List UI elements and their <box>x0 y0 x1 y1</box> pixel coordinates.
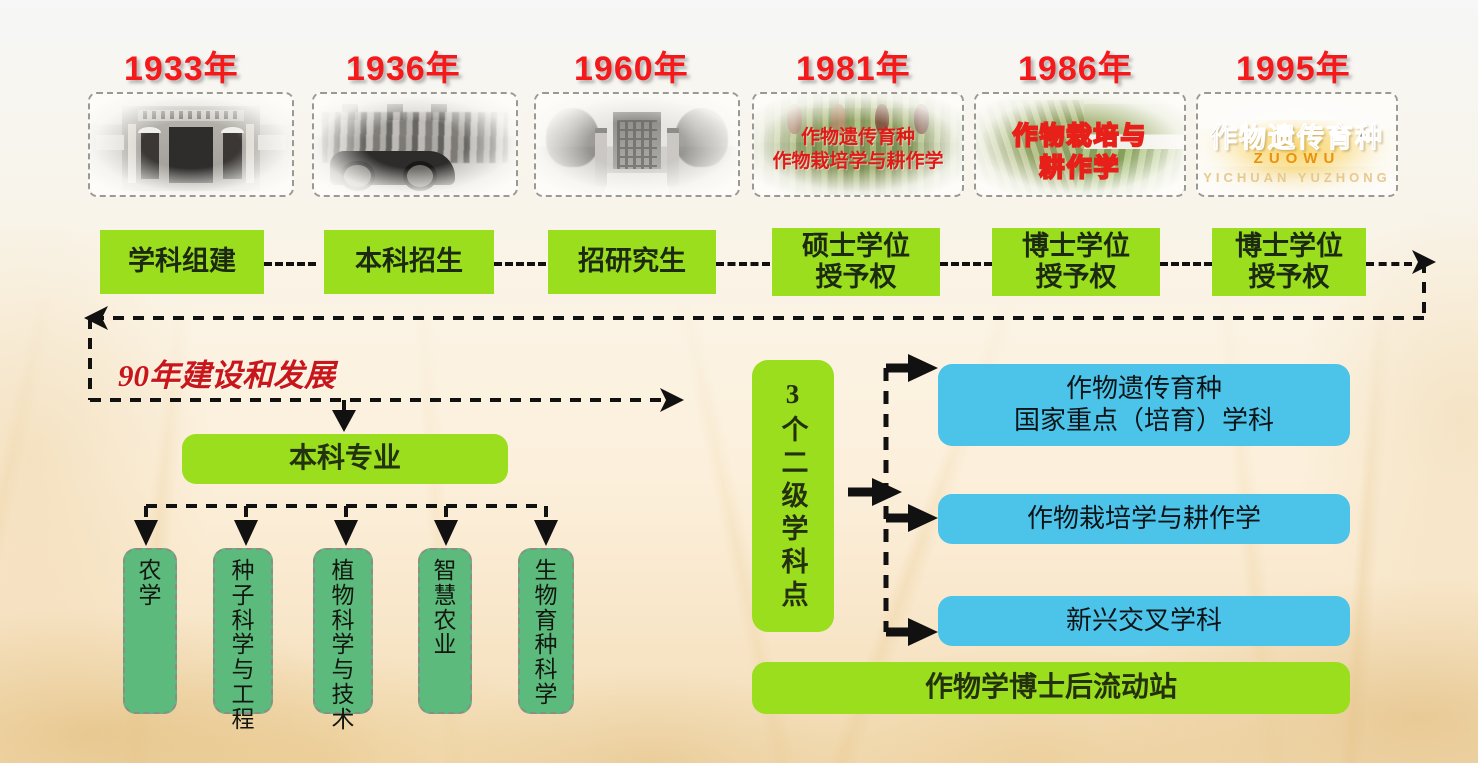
milestone-box-4[interactable]: 硕士学位 授予权 <box>772 228 940 296</box>
year-label-1981: 1981年 <box>796 41 911 90</box>
sorghum-field-photo: 作物遗传育种 作物栽培学与耕作学 <box>752 92 964 197</box>
major-label-3: 植物科学与技术 <box>330 558 356 732</box>
major-box-3[interactable]: 植物科学与技术 <box>313 548 373 714</box>
postdoc-station-label: 作物学博士后流动站 <box>925 672 1177 704</box>
milestone-connector-6 <box>1366 262 1412 266</box>
postdoc-station-box[interactable]: 作物学博士后流动站 <box>752 662 1350 714</box>
year-label-1936: 1936年 <box>346 41 461 90</box>
discipline-label-3: 新兴交叉学科 <box>1066 605 1222 637</box>
milestone-label-5-line2: 授予权 <box>1036 262 1117 293</box>
milestone-label-5-line1: 博士学位 <box>1022 231 1130 262</box>
year-label-1933: 1933年 <box>124 41 239 90</box>
milestone-connector-3 <box>716 262 770 266</box>
major-box-1[interactable]: 农学 <box>123 548 177 714</box>
discipline-label-2: 作物栽培学与耕作学 <box>1027 503 1261 535</box>
milestone-label-6-line2: 授予权 <box>1249 262 1330 293</box>
major-label-4: 智慧农业 <box>432 558 458 657</box>
plate-pinyin-primary: ZUOWU <box>1198 150 1396 167</box>
discipline-label-1-line2: 国家重点（培育）学科 <box>1014 405 1274 437</box>
milestone-connector-5 <box>1160 262 1212 266</box>
milestone-label-4-line2: 授予权 <box>816 262 897 293</box>
milestone-label-2: 本科招生 <box>355 246 463 277</box>
major-label-1: 农学 <box>137 558 163 608</box>
milestone-label-6-line1: 博士学位 <box>1235 231 1343 262</box>
year-label-1995: 1995年 <box>1236 41 1351 90</box>
milestone-connector-4 <box>940 262 992 266</box>
milestone-box-5[interactable]: 博士学位 授予权 <box>992 228 1160 296</box>
milestone-label-3: 招研究生 <box>578 246 686 277</box>
milestone-connector-2 <box>494 262 546 266</box>
discipline-box-2[interactable]: 作物栽培学与耕作学 <box>938 494 1350 544</box>
milestone-label-1: 学科组建 <box>128 246 236 277</box>
corn-caption-line1: 作物栽培与 <box>976 116 1184 152</box>
discipline-group-box[interactable]: 3个二级学科点 <box>752 360 834 632</box>
undergraduate-header-box[interactable]: 本科专业 <box>182 434 508 484</box>
campus-gate-photo <box>534 92 740 197</box>
milestone-label-4-line1: 硕士学位 <box>802 231 910 262</box>
undergraduate-header-label: 本科专业 <box>289 443 401 475</box>
major-box-5[interactable]: 生物育种科学 <box>518 548 574 714</box>
milestone-box-2[interactable]: 本科招生 <box>324 230 494 294</box>
corn-field-photo: 作物栽培与 耕作学 <box>974 92 1186 197</box>
summary-label: 90年建设和发展 <box>118 350 335 395</box>
corn-caption-line2: 耕作学 <box>976 148 1184 184</box>
major-label-2: 种子科学与工程 <box>230 558 256 732</box>
year-label-1960: 1960年 <box>574 41 689 90</box>
discipline-title-plate: 作物遗传育种 ZUOWU YICHUAN YUZHONG <box>1196 92 1398 197</box>
year-label-1986: 1986年 <box>1018 41 1133 90</box>
major-box-2[interactable]: 种子科学与工程 <box>213 548 273 714</box>
milestone-box-6[interactable]: 博士学位 授予权 <box>1212 228 1366 296</box>
major-label-5: 生物育种科学 <box>533 558 559 707</box>
discipline-box-3[interactable]: 新兴交叉学科 <box>938 596 1350 646</box>
old-building-photo <box>88 92 294 197</box>
milestone-connector-1 <box>264 262 316 266</box>
discipline-group-label: 3个二级学科点 <box>774 379 813 613</box>
slide-canvas: 1933年 1936年 1960年 1981年 1986年 1995年 <box>0 0 1478 763</box>
sorghum-caption-line1: 作物遗传育种 <box>754 122 962 149</box>
major-box-4[interactable]: 智慧农业 <box>418 548 472 714</box>
milestone-box-1[interactable]: 学科组建 <box>100 230 264 294</box>
sorghum-caption-line2: 作物栽培学与耕作学 <box>754 146 962 173</box>
discipline-label-1-line1: 作物遗传育种 <box>1066 373 1222 405</box>
plate-pinyin-secondary: YICHUAN YUZHONG <box>1198 170 1396 185</box>
historic-gathering-photo <box>312 92 518 197</box>
discipline-box-1[interactable]: 作物遗传育种 国家重点（培育）学科 <box>938 364 1350 446</box>
milestone-box-3[interactable]: 招研究生 <box>548 230 716 294</box>
